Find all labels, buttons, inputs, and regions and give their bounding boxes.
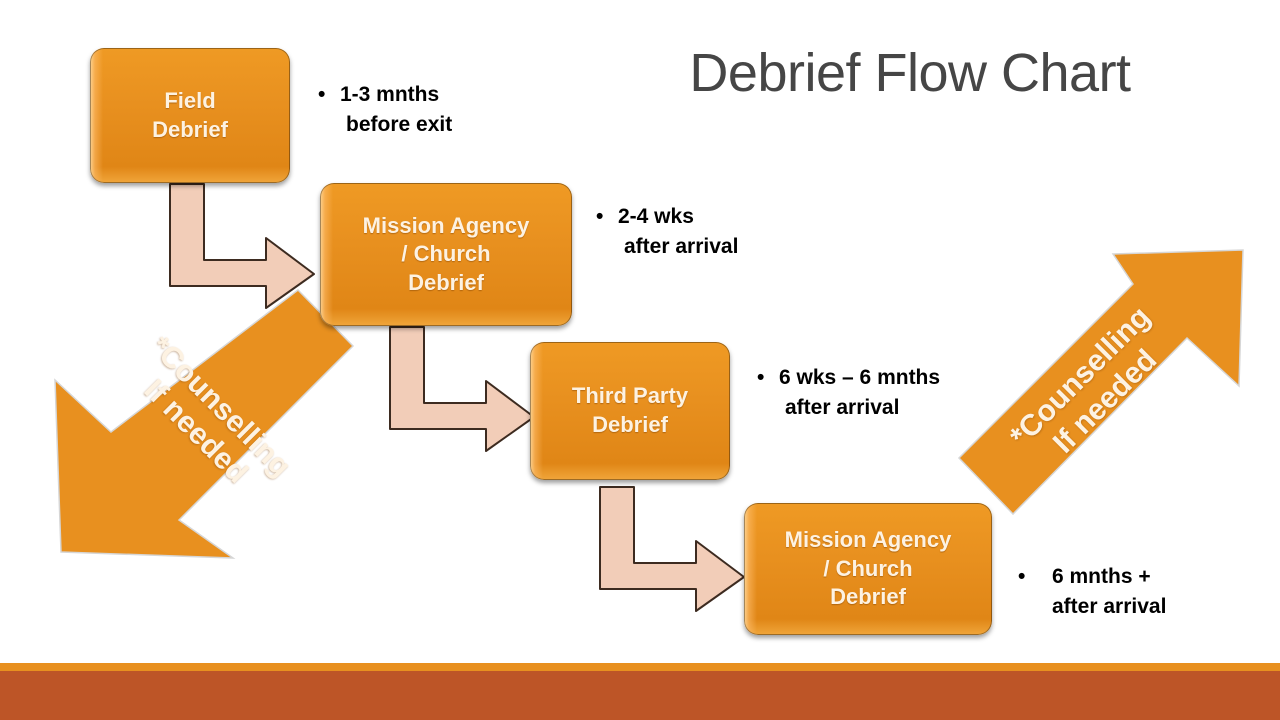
process-box-third-party-debrief[interactable]: Third Party Debrief [530, 342, 730, 480]
bullet-marker-4: • [1018, 562, 1025, 592]
bullet-timing-third-party: • 6 wks – 6 mnths after arrival [757, 363, 940, 423]
page-title: Debrief Flow Chart [620, 42, 1200, 104]
process-box-field-debrief[interactable]: Field Debrief [90, 48, 290, 183]
bullet-3-line-2: after arrival [785, 393, 940, 423]
third-party-line-2: Debrief [592, 411, 668, 440]
process-box-mission-agency-church-debrief-2[interactable]: Mission Agency / Church Debrief [744, 503, 992, 635]
bullet-marker-2: • [596, 202, 603, 232]
mission-2-line-2: / Church [823, 555, 912, 584]
mission-2-line-3: Debrief [830, 583, 906, 612]
connector-third-party-to-mission-2 [598, 485, 748, 613]
bullet-timing-field-debrief: • 1-3 mnths before exit [318, 80, 452, 140]
footer-accent-stripe [0, 663, 1280, 671]
connector-mission-1-to-third-party [388, 325, 538, 453]
connector-field-to-mission-1 [168, 182, 318, 310]
mission-1-line-3: Debrief [408, 269, 484, 298]
counselling-arrow-right: *Counselling If needed [955, 246, 1255, 542]
slide-canvas: Debrief Flow Chart *Counselling If neede… [0, 0, 1280, 720]
bullet-marker-1: • [318, 80, 325, 110]
third-party-line-1: Third Party [572, 382, 688, 411]
bullet-4-line-1: 6 mnths + [1052, 565, 1151, 588]
mission-2-line-1: Mission Agency [785, 526, 952, 555]
bullet-timing-mission-agency-2: • 6 mnths + after arrival [1018, 562, 1166, 622]
mission-1-line-2: / Church [401, 240, 490, 269]
field-debrief-line-1: Field [164, 87, 215, 116]
counselling-arrow-left: *Counselling If needed [58, 296, 358, 562]
bullet-4-line-2: after arrival [1052, 592, 1166, 622]
bullet-2-line-2: after arrival [624, 232, 738, 262]
bullet-timing-mission-agency-1: • 2-4 wks after arrival [596, 202, 738, 262]
bullet-1-line-2: before exit [346, 110, 452, 140]
bullet-3-line-1: 6 wks – 6 mnths [779, 366, 940, 389]
process-box-mission-agency-church-debrief-1[interactable]: Mission Agency / Church Debrief [320, 183, 572, 326]
mission-1-line-1: Mission Agency [363, 212, 530, 241]
field-debrief-line-2: Debrief [152, 116, 228, 145]
bullet-2-line-1: 2-4 wks [618, 205, 694, 228]
bullet-1-line-1: 1-3 mnths [340, 83, 439, 106]
bullet-marker-3: • [757, 363, 764, 393]
footer-band [0, 671, 1280, 720]
